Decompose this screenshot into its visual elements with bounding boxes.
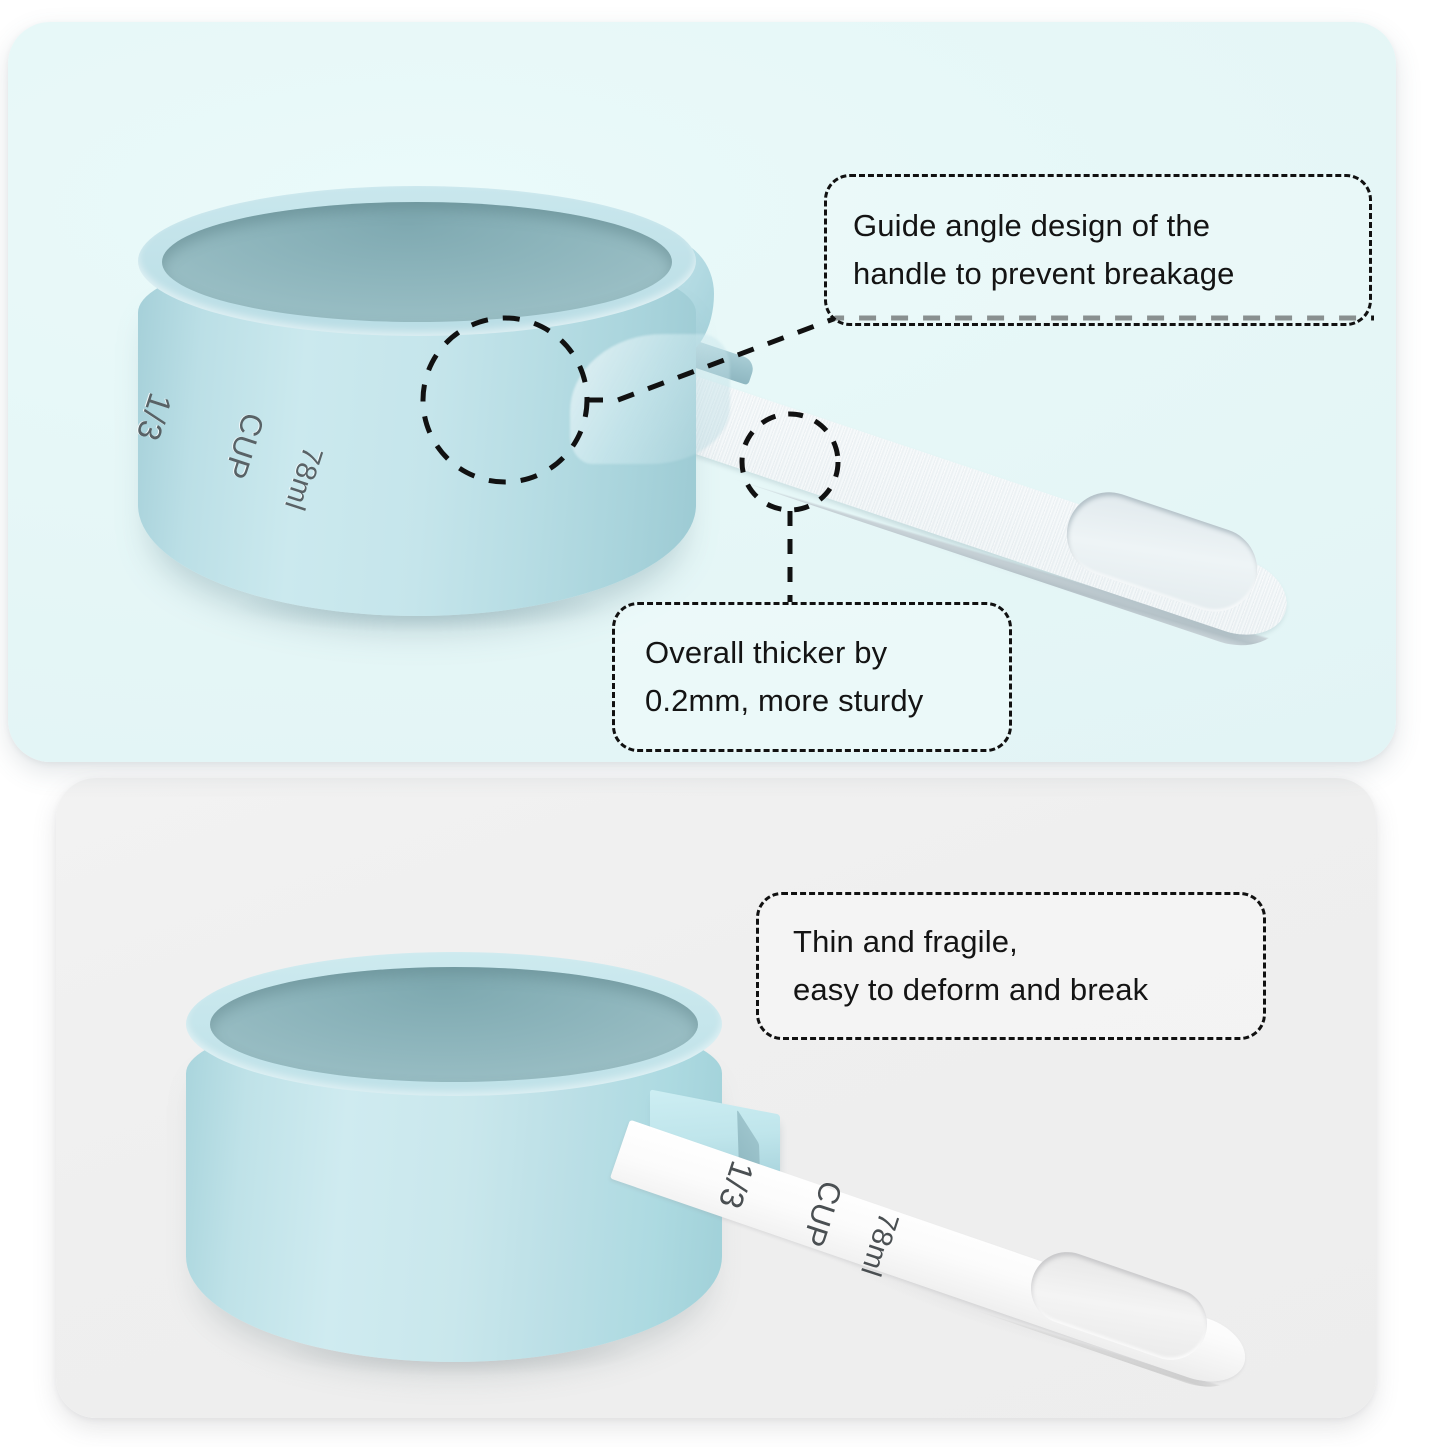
callout-thin-and-fragile: Thin and fragile, easy to deform and bre… <box>756 892 1266 1040</box>
cup-interior <box>210 967 698 1082</box>
callout-fragile-line1: Thin and fragile, <box>793 918 1229 966</box>
callout-guide-line2: handle to prevent breakage <box>853 250 1343 298</box>
callout-guide-angle: Guide angle design of the handle to prev… <box>824 174 1372 326</box>
callout-thicker-line1: Overall thicker by <box>645 629 979 677</box>
callout-fragile-line2: easy to deform and break <box>793 966 1229 1014</box>
callout-thicker-line2: 0.2mm, more sturdy <box>645 677 979 725</box>
measuring-cup-upgrade <box>118 186 728 636</box>
cup-interior <box>162 202 672 322</box>
callout-guide-line1: Guide angle design of the <box>853 202 1343 250</box>
callout-overall-thicker: Overall thicker by 0.2mm, more sturdy <box>612 602 1012 752</box>
